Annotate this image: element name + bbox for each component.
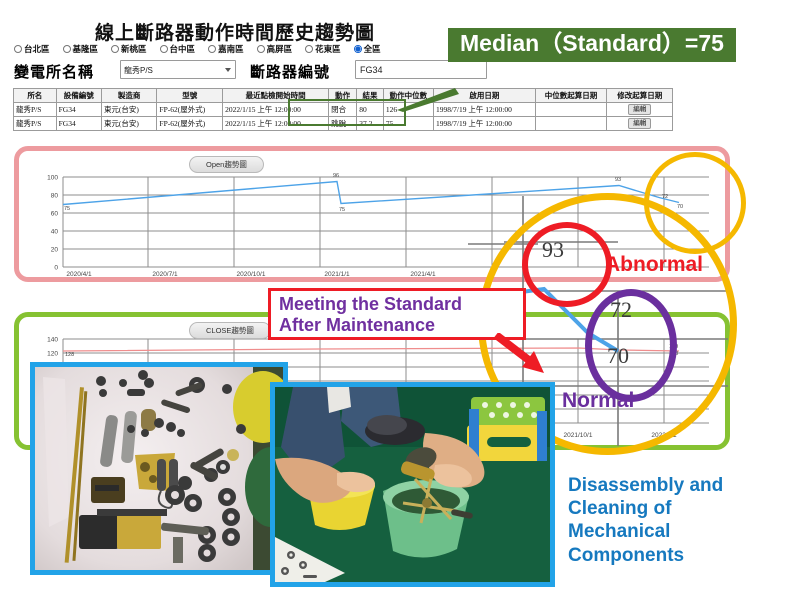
station-label: 變電所名稱 — [14, 61, 94, 82]
zoom-value-70: 70 — [607, 343, 629, 369]
svg-text:2020/7/1: 2020/7/1 — [152, 271, 178, 277]
radio-dot-icon — [208, 45, 216, 53]
cell-model: FP-62(屋外式) — [157, 103, 223, 117]
table-header-row: 所名 設備編號 製造商 型號 最近點檢開始時間 動作 結果 動作中位數 啟用日期… — [14, 89, 673, 103]
svg-text:80: 80 — [51, 193, 59, 200]
cell-equip-id: FG34 — [56, 103, 101, 117]
radio-region-gaoping[interactable]: 高屏區 — [257, 43, 293, 55]
cell-station: 龍秀P/S — [14, 103, 57, 117]
chevron-down-icon — [225, 68, 231, 72]
breaker-input[interactable]: FG34 — [355, 60, 487, 79]
cell-median-start-date — [535, 117, 607, 131]
svg-text:2021/10/1: 2021/10/1 — [564, 432, 593, 439]
svg-text:129: 129 — [669, 344, 678, 350]
radio-dot-icon — [354, 45, 362, 53]
th-modify-start-date: 修改起算日期 — [607, 89, 673, 103]
th-model: 型號 — [157, 89, 223, 103]
breaker-input-value: FG34 — [360, 65, 383, 75]
radio-label: 花東區 — [315, 43, 341, 55]
svg-text:20: 20 — [51, 247, 59, 254]
caption-line-1: Disassembly and — [568, 474, 782, 497]
th-station: 所名 — [14, 89, 57, 103]
open-chart-title: Open趨勢圖 — [189, 156, 264, 173]
cell-action: 跳脫 — [329, 117, 357, 131]
radio-region-keelung[interactable]: 基隆區 — [63, 43, 99, 55]
radio-label: 嘉南區 — [218, 43, 244, 55]
cell-enable-date: 1998/7/19 上午 12:00:00 — [434, 117, 536, 131]
zoom-value-72: 72 — [610, 297, 632, 323]
svg-text:2020/4/1: 2020/4/1 — [66, 271, 92, 277]
cell-last-check-time: 2022/1/15 上午 12:00:00 — [223, 117, 329, 131]
station-select-value: 龍秀P/S — [124, 66, 153, 75]
svg-text:70: 70 — [677, 204, 683, 210]
svg-text:2021/1/1: 2021/1/1 — [324, 271, 350, 277]
th-last-check-time: 最近點檢開始時間 — [223, 89, 329, 103]
svg-text:72: 72 — [662, 194, 668, 200]
photo-caption: Disassembly and Cleaning of Mechanical C… — [568, 474, 782, 567]
svg-text:2022/1/1: 2022/1/1 — [651, 432, 677, 439]
callout-line-1: Meeting the Standard — [279, 294, 515, 315]
breaker-label: 斷路器編號 — [250, 61, 330, 82]
radio-region-jiannan[interactable]: 嘉南區 — [208, 43, 244, 55]
cell-median-start-date — [535, 103, 607, 117]
svg-text:96: 96 — [333, 173, 339, 179]
cell-action-median: 126 — [383, 103, 433, 117]
cell-action: 閉合 — [329, 103, 357, 117]
svg-text:128: 128 — [669, 351, 678, 357]
svg-text:0: 0 — [54, 265, 58, 272]
region-radio-group[interactable]: 台北區 基隆區 新桃區 台中區 嘉南區 高屏區 花東區 全區 — [14, 41, 494, 56]
radio-region-taipei[interactable]: 台北區 — [14, 43, 50, 55]
radio-dot-icon — [305, 45, 313, 53]
red-arrow-icon — [492, 333, 550, 375]
abnormal-label: Abnormal — [605, 253, 703, 277]
median-standard-banner: Median（Standard）=75 — [448, 28, 736, 62]
radio-label: 台北區 — [24, 43, 50, 55]
svg-text:140: 140 — [47, 337, 58, 344]
table-row[interactable]: 龍秀P/S FG34 東元(台安) FP-62(屋外式) 2022/1/15 上… — [14, 103, 673, 117]
th-result: 結果 — [357, 89, 384, 103]
cell-modify-start-date[interactable]: 編輯 — [607, 103, 673, 117]
cell-last-check-time: 2022/1/15 上午 12:00:00 — [223, 103, 329, 117]
station-select[interactable]: 龍秀P/S — [120, 60, 236, 79]
cell-action-median: 75 — [383, 117, 433, 131]
photo-2-content — [275, 387, 550, 582]
cell-result: 80 — [357, 103, 384, 117]
radio-label: 新桃區 — [121, 43, 147, 55]
caption-line-3: Mechanical — [568, 520, 782, 543]
photo-1-content — [35, 367, 283, 570]
svg-text:75: 75 — [339, 207, 345, 213]
th-median-start-date: 中位數起算日期 — [535, 89, 607, 103]
cell-modify-start-date[interactable]: 編輯 — [607, 117, 673, 131]
svg-text:75: 75 — [64, 206, 70, 212]
edit-button[interactable]: 編輯 — [628, 118, 651, 129]
radio-dot-icon — [63, 45, 71, 53]
cell-equip-id: FG34 — [56, 117, 101, 131]
radio-label: 基隆區 — [73, 43, 99, 55]
radio-label: 高屏區 — [267, 43, 293, 55]
radio-label: 台中區 — [170, 43, 196, 55]
cell-station: 龍秀P/S — [14, 117, 57, 131]
radio-label: 全區 — [364, 43, 381, 55]
table-row[interactable]: 龍秀P/S FG34 東元(台安) FP-62(屋外式) 2022/1/15 上… — [14, 117, 673, 131]
th-action: 動作 — [329, 89, 357, 103]
cell-manufacturer: 東元(台安) — [101, 103, 156, 117]
radio-region-huadong[interactable]: 花東區 — [305, 43, 341, 55]
svg-text:40: 40 — [51, 229, 59, 236]
photo-cleaning-component — [270, 382, 555, 587]
svg-text:2021/4/1: 2021/4/1 — [410, 271, 436, 277]
svg-text:2020/10/1: 2020/10/1 — [237, 271, 266, 277]
close-chart-title: CLOSE趨勢圖 — [189, 322, 271, 339]
breaker-table: 所名 設備編號 製造商 型號 最近點檢開始時間 動作 結果 動作中位數 啟用日期… — [13, 88, 673, 131]
meeting-standard-callout: Meeting the Standard After Maintenance — [268, 288, 526, 340]
edit-button[interactable]: 編輯 — [628, 104, 651, 115]
th-manufacturer: 製造商 — [101, 89, 156, 103]
caption-line-2: Cleaning of — [568, 497, 782, 520]
caption-line-4: Components — [568, 544, 782, 567]
radio-dot-icon — [14, 45, 22, 53]
th-equip-id: 設備編號 — [56, 89, 101, 103]
callout-line-2: After Maintenance — [279, 315, 515, 336]
radio-dot-icon — [111, 45, 119, 53]
cell-enable-date: 1998/7/19 上午 12:00:00 — [434, 103, 536, 117]
photo-disassembled-parts — [30, 362, 288, 575]
radio-region-xintao[interactable]: 新桃區 — [111, 43, 147, 55]
zoom-value-93: 93 — [542, 237, 564, 263]
svg-text:60: 60 — [51, 211, 59, 218]
radio-dot-icon — [257, 45, 265, 53]
svg-text:100: 100 — [47, 175, 58, 182]
svg-text:93: 93 — [615, 177, 621, 183]
radio-region-all[interactable]: 全區 — [354, 43, 381, 55]
cell-model: FP-62(屋外式) — [157, 117, 223, 131]
th-enable-date: 啟用日期 — [434, 89, 536, 103]
radio-region-taichung[interactable]: 台中區 — [160, 43, 196, 55]
cell-manufacturer: 東元(台安) — [101, 117, 156, 131]
svg-text:120: 120 — [47, 351, 58, 358]
normal-label: Normal — [562, 389, 634, 413]
svg-text:128: 128 — [65, 352, 74, 358]
th-action-median: 動作中位數 — [383, 89, 433, 103]
cell-result: 37.2 — [357, 117, 384, 131]
radio-dot-icon — [160, 45, 168, 53]
